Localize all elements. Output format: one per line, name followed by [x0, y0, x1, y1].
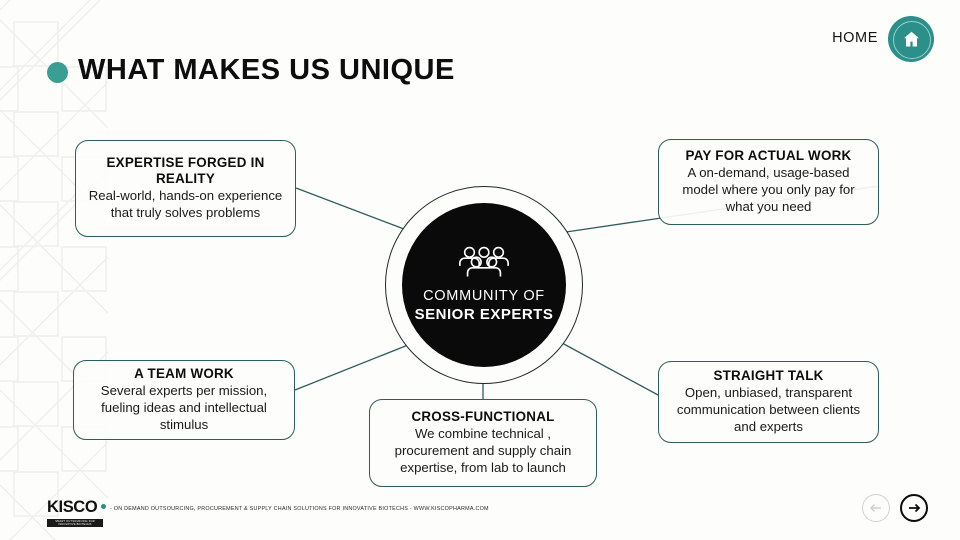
previous-slide-button[interactable] [862, 494, 890, 522]
center-hub-disc: COMMUNITY OF SENIOR EXPERTS [402, 203, 566, 367]
slide-navigation [862, 494, 928, 522]
feature-card-straight-talk[interactable]: STRAIGHT TALK Open, unbiased, transparen… [658, 361, 879, 443]
feature-card-a-team-work[interactable]: A TEAM WORK Several experts per mission,… [73, 360, 295, 440]
home-button[interactable] [888, 16, 934, 62]
kisco-logo-dot-icon [101, 504, 106, 509]
kisco-logo-word: KISCO [47, 499, 97, 516]
feature-card-pay-for-actual-work[interactable]: PAY FOR ACTUAL WORK A on-demand, usage-b… [658, 139, 879, 225]
title-bullet-icon [47, 62, 68, 83]
arrow-right-icon [906, 500, 922, 516]
card-description: A on-demand, usage-based model where you… [669, 165, 868, 216]
hub-line-2: SENIOR EXPERTS [415, 306, 554, 325]
footer-tagline: - ON DEMAND OUTSOURCING, PROCUREMENT & S… [110, 506, 489, 512]
card-description: Real-world, hands-on experience that tru… [86, 188, 285, 222]
arrow-left-icon [868, 500, 884, 516]
card-title: A TEAM WORK [134, 366, 234, 382]
slide-canvas: WHAT MAKES US UNIQUE HOME [0, 0, 960, 540]
card-title: EXPERTISE FORGED IN REALITY [86, 155, 285, 187]
card-title: PAY FOR ACTUAL WORK [686, 148, 852, 164]
home-label: HOME [832, 30, 878, 46]
feature-card-cross-functional[interactable]: CROSS-FUNCTIONAL We combine technical , … [369, 399, 597, 487]
card-title: CROSS-FUNCTIONAL [411, 409, 554, 425]
kisco-logo-subtitle: SMART OUTSOURCING FOR INNOVATIVE BIOTECH… [47, 519, 103, 527]
home-icon [901, 29, 922, 50]
card-description: We combine technical , procurement and s… [380, 426, 586, 477]
community-group-icon [456, 245, 512, 279]
page-title: WHAT MAKES US UNIQUE [78, 54, 455, 87]
card-description: Several experts per mission, fueling ide… [84, 383, 284, 434]
card-description: Open, unbiased, transparent communicatio… [669, 385, 868, 436]
card-title: STRAIGHT TALK [713, 368, 823, 384]
center-hub: COMMUNITY OF SENIOR EXPERTS [385, 186, 583, 384]
feature-card-expertise-forged-in-reality[interactable]: EXPERTISE FORGED IN REALITY Real-world, … [75, 140, 296, 237]
hub-line-1: COMMUNITY OF [423, 288, 545, 305]
next-slide-button[interactable] [900, 494, 928, 522]
kisco-logo: KISCO SMART OUTSOURCING FOR INNOVATIVE B… [47, 499, 107, 527]
